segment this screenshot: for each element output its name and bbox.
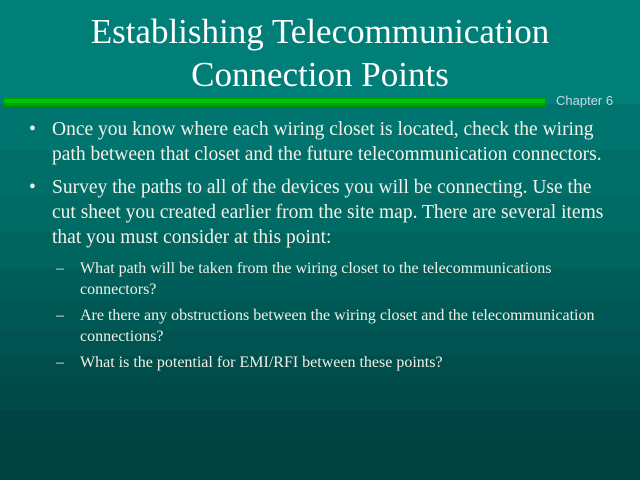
chapter-label: Chapter 6	[556, 93, 613, 108]
sub-bullet-text: What path will be taken from the wiring …	[80, 260, 551, 298]
bullet-text: Survey the paths to all of the devices y…	[52, 177, 603, 248]
sub-bullet-item: – What path will be taken from the wirin…	[0, 258, 640, 300]
presentation-slide: Establishing Telecommunication Connectio…	[0, 0, 640, 480]
slide-body: • Once you know where each wiring closet…	[0, 117, 640, 378]
bullet-item: • Once you know where each wiring closet…	[0, 117, 640, 167]
bullet-dot-icon: •	[29, 117, 41, 142]
title-line-1: Establishing Telecommunication	[0, 10, 640, 53]
slide-title: Establishing Telecommunication Connectio…	[0, 10, 640, 96]
sub-bullet-text: Are there any obstructions between the w…	[80, 307, 595, 345]
divider-line-shadow	[4, 106, 545, 108]
title-divider-rule	[4, 97, 545, 108]
title-line-2: Connection Points	[0, 53, 640, 96]
sub-bullet-text: What is the potential for EMI/RFI betwee…	[80, 354, 443, 371]
dash-icon: –	[56, 258, 72, 279]
bullet-text: Once you know where each wiring closet i…	[52, 119, 602, 165]
bullet-item: • Survey the paths to all of the devices…	[0, 175, 640, 250]
dash-icon: –	[56, 352, 72, 373]
sub-bullet-list: – What path will be taken from the wirin…	[0, 258, 640, 373]
sub-bullet-item: – What is the potential for EMI/RFI betw…	[0, 352, 640, 373]
dash-icon: –	[56, 305, 72, 326]
sub-bullet-item: – Are there any obstructions between the…	[0, 305, 640, 347]
bullet-dot-icon: •	[29, 175, 41, 200]
